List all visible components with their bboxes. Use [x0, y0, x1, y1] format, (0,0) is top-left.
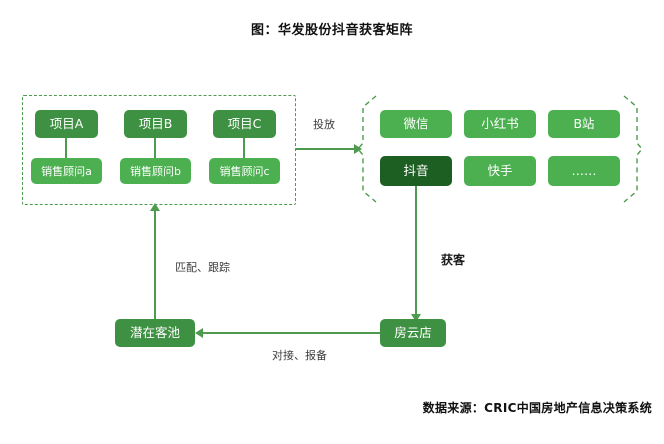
channel-box-kuaishou[interactable]: 快手 [464, 156, 536, 186]
channel-box-bilibili[interactable]: B站 [548, 110, 620, 138]
edge-label-match-track: 匹配、跟踪 [175, 259, 230, 275]
store-label: 房云店 [394, 327, 432, 340]
consultant-label: 销售顾问b [130, 166, 181, 177]
data-source-note: 数据来源：CRIC中国房地产信息决策系统 [423, 399, 652, 416]
consultant-box-c[interactable]: 销售顾问c [209, 158, 280, 184]
connector-match-track-line [154, 209, 156, 319]
project-box-a[interactable]: 项目A [35, 110, 98, 138]
connector-project-a-consultant [65, 138, 67, 158]
consultant-label: 销售顾问a [41, 166, 92, 177]
project-box-b[interactable]: 项目B [124, 110, 187, 138]
channel-box-weixin[interactable]: 微信 [380, 110, 452, 138]
connector-project-c-consultant [243, 138, 245, 158]
node-fangyundian[interactable]: 房云店 [380, 319, 446, 347]
page-title: 图：华发股份抖音获客矩阵 [0, 19, 664, 38]
connector-delivery-arrowhead [354, 144, 362, 154]
connector-dock-report-line [203, 332, 380, 334]
connector-acquire-line [415, 186, 417, 318]
connector-project-b-consultant [154, 138, 156, 158]
channel-box-xiaohongshu[interactable]: 小红书 [464, 110, 536, 138]
channel-box-douyin[interactable]: 抖音 [380, 156, 452, 186]
channel-box-more[interactable]: …… [548, 156, 620, 186]
channel-label: …… [572, 165, 597, 178]
figure-canvas: 图：华发股份抖音获客矩阵 项目A 销售顾问a 项目B 销售顾问b 项目C 销售顾… [0, 0, 664, 444]
pool-label: 潜在客池 [130, 327, 180, 340]
connector-delivery-line [296, 148, 356, 150]
project-box-c[interactable]: 项目C [213, 110, 276, 138]
edge-label-delivery: 投放 [313, 116, 335, 132]
channel-label: 抖音 [403, 165, 428, 178]
channel-label: B站 [573, 118, 594, 131]
node-potential-customer-pool[interactable]: 潜在客池 [115, 319, 195, 347]
consultant-box-b[interactable]: 销售顾问b [120, 158, 191, 184]
channel-label: 微信 [403, 118, 428, 131]
project-label: 项目A [50, 118, 84, 131]
edge-label-dock-report: 对接、报备 [272, 347, 327, 363]
connector-dock-report-arrowhead [195, 328, 203, 338]
consultant-label: 销售顾问c [219, 166, 269, 177]
channel-label: 小红书 [481, 118, 519, 131]
project-label: 项目B [139, 118, 173, 131]
project-label: 项目C [228, 118, 262, 131]
edge-label-acquire: 获客 [441, 251, 465, 268]
channel-label: 快手 [487, 165, 512, 178]
connector-match-track-arrowhead [150, 203, 160, 211]
channel-group-right-brace [622, 93, 644, 205]
consultant-box-a[interactable]: 销售顾问a [31, 158, 102, 184]
